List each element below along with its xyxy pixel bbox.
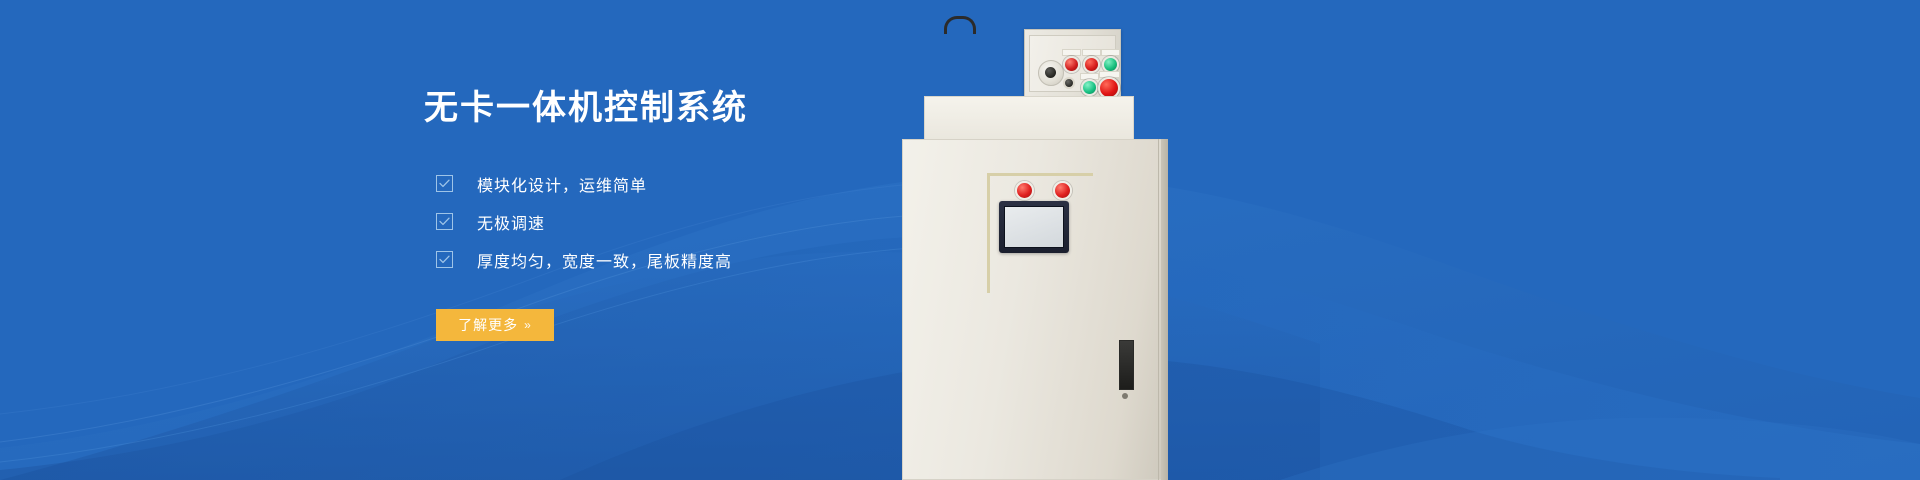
cabinet-body (902, 139, 1168, 480)
cabinet-door-edge (1158, 139, 1159, 480)
feature-list: 模块化设计，运维简单 无极调速 厚度均匀，宽度一致，尾板精度高 (436, 173, 894, 271)
hmi-trim-top (987, 173, 1093, 176)
hmi-touchscreen[interactable] (999, 201, 1069, 253)
button-label-plate (1062, 49, 1081, 56)
machine-photo (900, 0, 1190, 480)
button-green-2[interactable] (1081, 79, 1098, 96)
feature-label: 模块化设计，运维简单 (477, 172, 647, 196)
button-red-1[interactable] (1063, 56, 1080, 73)
page-title: 无卡一体机控制系统 (424, 88, 894, 129)
list-item: 模块化设计，运维简单 (436, 173, 894, 195)
button-label-plate (1101, 49, 1120, 56)
hero-content: 无卡一体机控制系统 模块化设计，运维简单 无极调速 (424, 88, 894, 341)
small-black-toggle[interactable] (1063, 77, 1075, 89)
cabinet-side-panel (1161, 139, 1168, 480)
indicator-lamp-left[interactable] (1015, 181, 1034, 200)
list-item: 无极调速 (436, 211, 894, 233)
button-label-plate (1082, 49, 1101, 56)
check-square-icon (436, 175, 453, 192)
button-red-2[interactable] (1083, 56, 1100, 73)
indicator-lamp-right[interactable] (1053, 181, 1072, 200)
hmi-trim-left (987, 173, 990, 293)
check-square-icon (436, 213, 453, 230)
check-square-icon (436, 251, 453, 268)
feature-label: 厚度均匀，宽度一致，尾板精度高 (477, 248, 732, 272)
list-item: 厚度均匀，宽度一致，尾板精度高 (436, 249, 894, 271)
learn-more-button[interactable]: 了解更多 » (436, 309, 554, 341)
top-control-box (1024, 29, 1121, 97)
cabinet-top-cap (924, 96, 1134, 140)
cabinet-vent-slot (1119, 340, 1134, 390)
control-box-faceplate (1029, 35, 1116, 92)
feature-label: 无极调速 (477, 210, 545, 234)
rotary-selector-knob[interactable] (1038, 60, 1064, 86)
carry-handle-icon (944, 16, 976, 34)
hmi-screen-surface[interactable] (1004, 206, 1064, 248)
hero-banner: 无卡一体机控制系统 模块化设计，运维简单 无极调速 (0, 0, 1920, 480)
cabinet-screw (1122, 393, 1128, 399)
chevron-right-double-icon: » (524, 318, 532, 332)
learn-more-label: 了解更多 (458, 315, 518, 335)
